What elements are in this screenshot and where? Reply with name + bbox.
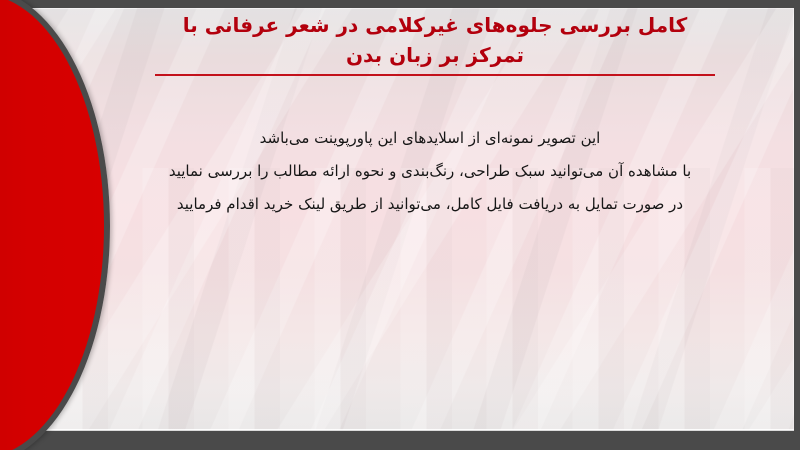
slide-title: کامل بررسی جلوه‌های غیرکلامی در شعر عرفا… [90, 10, 780, 76]
canvas-bottom-highlight [22, 429, 794, 431]
slide-body-text: این تصویر نمونه‌ای از اسلایدهای این پاور… [110, 122, 750, 221]
presentation-slide: کامل بررسی جلوه‌های غیرکلامی در شعر عرفا… [0, 0, 800, 450]
body-text-line-3: در صورت تمایل به دریافت فایل کامل، می‌تو… [110, 188, 750, 221]
body-text-line-1: این تصویر نمونه‌ای از اسلایدهای این پاور… [110, 122, 750, 155]
slide-title-line-1: کامل بررسی جلوه‌های غیرکلامی در شعر عرفا… [90, 10, 780, 40]
slide-title-line-2: تمرکز بر زبان بدن [90, 40, 780, 70]
title-underline-rule [155, 74, 715, 76]
body-text-line-2: با مشاهده آن می‌توانید سبک طراحی، رنگ‌بن… [110, 155, 750, 188]
